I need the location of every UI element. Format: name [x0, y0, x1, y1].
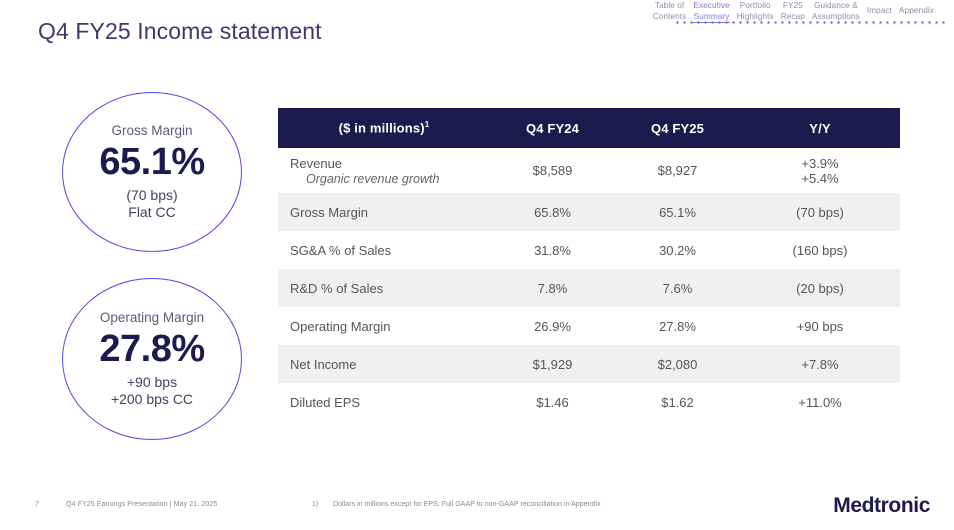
row-value-yy: +90 bps: [740, 307, 900, 345]
yy-line1: +11.0%: [798, 395, 842, 410]
table-col-header-fy24: Q4 FY24: [490, 108, 615, 148]
table-row: R&D % of Sales7.8%7.6%(20 bps): [278, 269, 900, 307]
nav-item-executive-summary[interactable]: Executive Summary: [693, 1, 729, 23]
row-value-fy25: 65.1%: [615, 193, 740, 231]
row-label: Revenue: [290, 156, 342, 171]
row-label: Net Income: [290, 357, 356, 372]
row-label: Gross Margin: [290, 205, 368, 220]
footer-page-number: 7: [35, 501, 39, 508]
row-value-fy24: 31.8%: [490, 231, 615, 269]
row-value-yy: +7.8%: [740, 345, 900, 383]
footnote-text: Dollars in millions except for EPS; Full…: [333, 501, 601, 508]
table-row: Operating Margin26.9%27.8%+90 bps: [278, 307, 900, 345]
yy-line1: (70 bps): [796, 205, 844, 220]
row-value-fy24: 26.9%: [490, 307, 615, 345]
row-label-cell: Net Income: [278, 345, 490, 383]
row-label: Operating Margin: [290, 319, 390, 334]
row-value-fy24: 7.8%: [490, 269, 615, 307]
kpi-sub-line1: (70 bps): [126, 187, 177, 203]
nav-item-appendix[interactable]: Appendix: [899, 1, 934, 17]
row-value-fy25: $2,080: [615, 345, 740, 383]
kpi-subtext: +90 bps +200 bps CC: [111, 374, 193, 408]
table-row: Gross Margin65.8%65.1%(70 bps): [278, 193, 900, 231]
row-value-yy: +11.0%: [740, 383, 900, 421]
yy-line2: +5.4%: [801, 171, 838, 186]
nav-item-impact[interactable]: Impact: [867, 1, 892, 17]
kpi-sub-line1: +90 bps: [127, 374, 177, 390]
row-label-cell: R&D % of Sales: [278, 269, 490, 307]
table-col-header-fy25: Q4 FY25: [615, 108, 740, 148]
kpi-sub-line2: Flat CC: [128, 204, 175, 220]
col-header-text: ($ in millions): [339, 121, 425, 136]
footnote-superscript: 1: [425, 120, 430, 129]
kpi-value: 27.8%: [99, 330, 204, 370]
row-value-fy25: 30.2%: [615, 231, 740, 269]
row-label-cell: RevenueOrganic revenue growth: [278, 148, 490, 193]
yy-line1: +7.8%: [801, 357, 838, 372]
table-row: RevenueOrganic revenue growth$8,589$8,92…: [278, 148, 900, 193]
row-value-fy25: $1.62: [615, 383, 740, 421]
row-label-cell: SG&A % of Sales: [278, 231, 490, 269]
row-value-yy: +3.9%+5.4%: [740, 148, 900, 193]
row-value-fy24: $1.46: [490, 383, 615, 421]
footer-presentation-label: Q4 FY25 Earnings Presentation | May 21, …: [66, 501, 217, 508]
table-row: Diluted EPS$1.46$1.62+11.0%: [278, 383, 900, 421]
nav-item-fy25-recap[interactable]: FY25 Recap: [781, 1, 805, 22]
row-value-fy25: 27.8%: [615, 307, 740, 345]
yy-line1: (160 bps): [793, 243, 848, 258]
row-value-yy: (20 bps): [740, 269, 900, 307]
row-sub-label: Organic revenue growth: [290, 172, 490, 186]
row-value-yy: (160 bps): [740, 231, 900, 269]
yy-line1: +3.9%: [801, 156, 838, 171]
table-body: RevenueOrganic revenue growth$8,589$8,92…: [278, 148, 900, 421]
table-header-row: ($ in millions)1 Q4 FY24 Q4 FY25 Y/Y: [278, 108, 900, 148]
footnote-marker: 1): [312, 501, 318, 508]
row-label: SG&A % of Sales: [290, 243, 391, 258]
kpi-circle-gross-margin: Gross Margin 65.1% (70 bps) Flat CC: [62, 92, 242, 252]
nav-item-portfolio-highlights[interactable]: Portfolio Highlights: [737, 1, 774, 22]
row-value-fy24: $8,589: [490, 148, 615, 193]
kpi-sub-line2: +200 bps CC: [111, 391, 193, 407]
kpi-circle-operating-margin: Operating Margin 27.8% +90 bps +200 bps …: [62, 278, 242, 440]
row-label-cell: Gross Margin: [278, 193, 490, 231]
row-label-cell: Operating Margin: [278, 307, 490, 345]
row-value-yy: (70 bps): [740, 193, 900, 231]
yy-line1: +90 bps: [797, 319, 844, 334]
row-label-cell: Diluted EPS: [278, 383, 490, 421]
kpi-label: Gross Margin: [111, 123, 192, 138]
row-value-fy24: $1,929: [490, 345, 615, 383]
row-value-fy25: $8,927: [615, 148, 740, 193]
income-statement-table: ($ in millions)1 Q4 FY24 Q4 FY25 Y/Y Rev…: [278, 108, 900, 421]
page-title: Q4 FY25 Income statement: [38, 18, 322, 45]
row-label: Diluted EPS: [290, 395, 360, 410]
table-col-header-yy: Y/Y: [740, 108, 900, 148]
top-navigation: Table of ContentsExecutive SummaryPortfo…: [668, 0, 954, 26]
row-label: R&D % of Sales: [290, 281, 383, 296]
table-col-header-label: ($ in millions)1: [278, 108, 490, 148]
nav-item-list: Table of ContentsExecutive SummaryPortfo…: [668, 0, 954, 23]
kpi-label: Operating Margin: [100, 310, 204, 325]
nav-item-guidance-assumptions[interactable]: Guidance & Assumptions: [812, 1, 860, 22]
kpi-subtext: (70 bps) Flat CC: [126, 187, 177, 221]
table-row: Net Income$1,929$2,080+7.8%: [278, 345, 900, 383]
table-header: ($ in millions)1 Q4 FY24 Q4 FY25 Y/Y: [278, 108, 900, 148]
nav-dotted-rule: [676, 21, 946, 25]
nav-item-table-of-contents[interactable]: Table of Contents: [653, 1, 687, 22]
row-value-fy25: 7.6%: [615, 269, 740, 307]
kpi-value: 65.1%: [99, 143, 204, 183]
medtronic-logo: Medtronic: [833, 494, 930, 518]
row-value-fy24: 65.8%: [490, 193, 615, 231]
table-row: SG&A % of Sales31.8%30.2%(160 bps): [278, 231, 900, 269]
yy-line1: (20 bps): [796, 281, 844, 296]
